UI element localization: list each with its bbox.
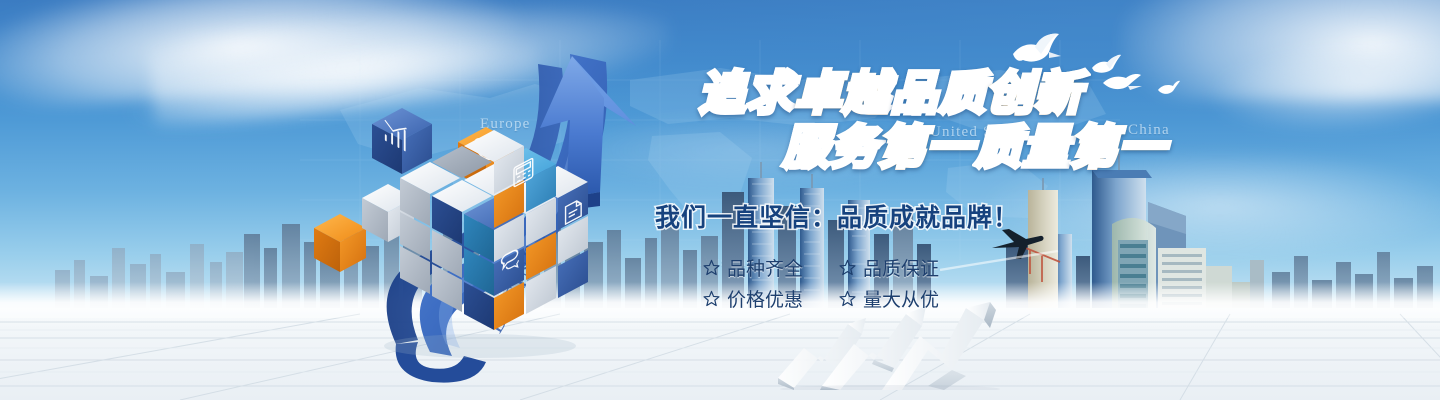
- headline-segment: 服务: [783, 124, 879, 170]
- marketing-copy: 追求卓越 品质创新 服务第一 质量第一 我们一直坚信：品质成就品牌！ 品种齐全 …: [655, 70, 1215, 314]
- feature-item: 量大从优: [839, 283, 967, 314]
- feature-item: 价格优惠: [703, 283, 831, 314]
- headline-segment: 品质: [891, 70, 987, 116]
- headline-line-2: 服务第一 质量第一: [783, 124, 1215, 170]
- feature-label: 品种齐全: [727, 254, 803, 281]
- feature-list: 品种齐全 品质保证 价格优惠 量大从优: [703, 252, 1215, 314]
- ground-perspective-lines: [0, 308, 1440, 400]
- feature-label: 价格优惠: [727, 285, 803, 312]
- headline-line-1: 追求卓越 品质创新: [699, 70, 1215, 116]
- dove-icon: [1005, 28, 1065, 70]
- feature-item: 品种齐全: [703, 252, 831, 283]
- feature-item: 品质保证: [839, 252, 967, 283]
- headline-segment: 追求: [699, 70, 795, 116]
- headline-segment: 卓越: [795, 70, 891, 116]
- star-icon: [703, 259, 720, 276]
- feature-label: 品质保证: [863, 254, 939, 281]
- headline: 追求卓越 品质创新 服务第一 质量第一: [655, 70, 1215, 170]
- star-icon: [703, 290, 720, 307]
- headline-segment: 第一: [879, 124, 975, 170]
- feature-label: 量大从优: [863, 285, 939, 312]
- star-icon: [839, 259, 856, 276]
- subtitle: 我们一直坚信：品质成就品牌！: [655, 198, 1215, 234]
- promotional-banner: Europe United States China Australia: [0, 0, 1440, 400]
- star-icon: [839, 290, 856, 307]
- headline-segment: 质量: [975, 124, 1071, 170]
- headline-segment: 创新: [987, 70, 1083, 116]
- headline-segment: 第一: [1071, 124, 1167, 170]
